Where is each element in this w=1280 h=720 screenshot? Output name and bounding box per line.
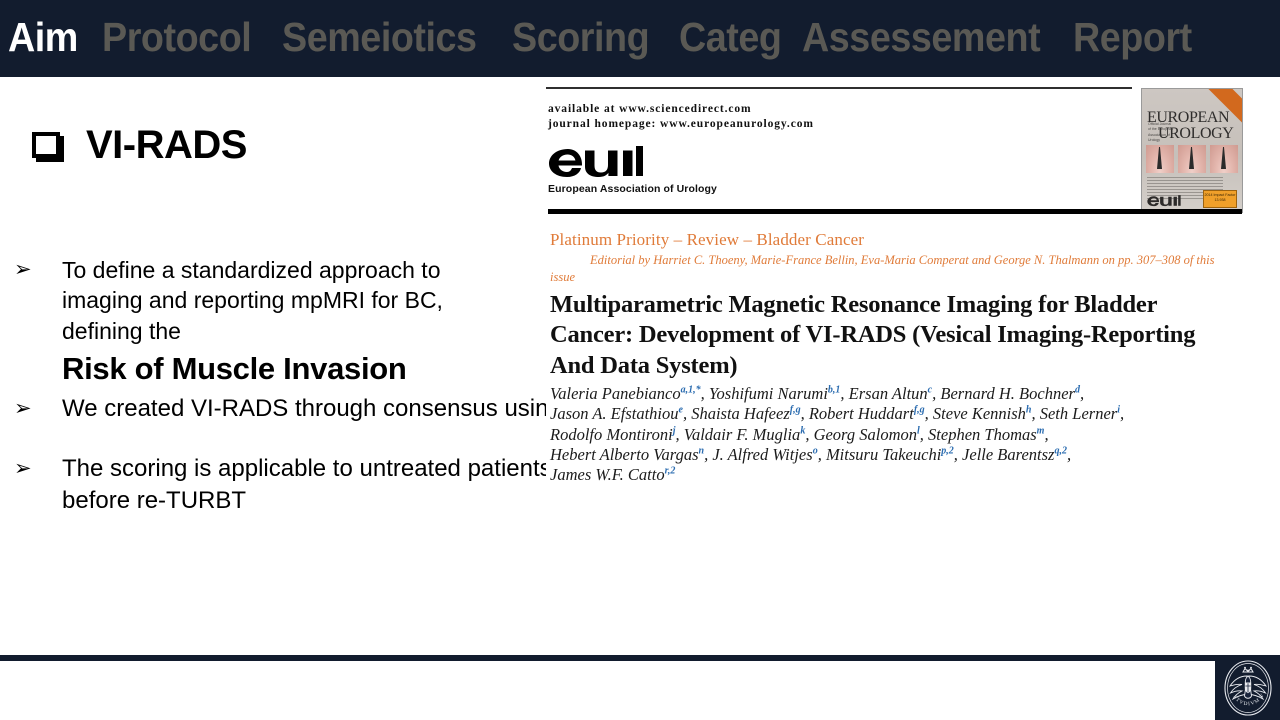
cover-anatomy-image-2 — [1178, 145, 1206, 173]
cover-subtitle: Official Journal of the European Associa… — [1148, 122, 1174, 143]
author-affiliation-marker: b,1 — [828, 385, 841, 396]
nav-item-protocol[interactable]: Protocol — [102, 17, 251, 61]
cover-impact-factor-text: 2014 Impact Factor 13.938 — [1204, 191, 1236, 204]
author-name: , — [1044, 425, 1048, 444]
article-available-at: available at www.sciencedirect.com — [548, 103, 752, 115]
author-name: , Stephen Thomas — [920, 425, 1037, 444]
journal-article-image: available at www.sciencedirect.com journ… — [546, 86, 1244, 484]
article-author-line: Hebert Alberto Vargasn, J. Alfred Witjes… — [550, 445, 1244, 465]
author-name: James W.F. Catto — [550, 465, 665, 484]
author-name: , Robert Huddart — [801, 404, 914, 423]
slide-canvas: Aim Protocol Semeiotics Scoring Categ As… — [0, 0, 1280, 720]
svg-text:STVDIVM VRBIS: STVDIVM VRBIS — [1222, 659, 1266, 707]
author-affiliation-marker: f,g — [790, 405, 801, 416]
nav-item-semeiotics[interactable]: Semeiotics — [282, 17, 477, 61]
eau-wordmark-icon — [548, 146, 644, 179]
footer-rule — [0, 655, 1215, 661]
author-affiliation-marker: f,g — [914, 405, 925, 416]
author-affiliation-marker: q,2 — [1054, 445, 1067, 456]
list-item-body: To define a standardized approach to ima… — [62, 257, 443, 344]
author-name: Hebert Alberto Vargas — [550, 445, 699, 464]
cover-eau-icon — [1147, 194, 1181, 208]
list-item-text: To define a standardized approach to ima… — [62, 255, 482, 390]
author-name: Jason A. Efstathiou — [550, 404, 679, 423]
author-affiliation-marker: p,2 — [941, 445, 954, 456]
article-author-line: Valeria Panebiancoa,1,*, Yoshifumi Narum… — [550, 384, 1244, 404]
author-affiliation-marker: r,2 — [665, 466, 676, 477]
author-name: Valeria Panebianco — [550, 384, 681, 403]
cover-impact-factor-badge: 2014 Impact Factor 13.938 — [1203, 190, 1237, 208]
nav-item-report[interactable]: Report — [1073, 17, 1192, 61]
list-item: ➢ To define a standardized approach to i… — [14, 255, 484, 390]
article-journal-homepage: journal homepage: www.europeanurology.co… — [548, 118, 814, 130]
author-name: , Shaista Hafeez — [683, 404, 790, 423]
author-name: , Valdair F. Muglia — [675, 425, 800, 444]
author-name: , Georg Salomon — [805, 425, 917, 444]
article-top-rule — [546, 87, 1132, 89]
article-author-list: Valeria Panebiancoa,1,*, Yoshifumi Narum… — [550, 384, 1244, 484]
author-name: , Yoshifumi Narumi — [701, 384, 828, 403]
author-name: , J. Alfred Witjes — [704, 445, 813, 464]
article-author-line: Rodolfo Montironij, Valdair F. Mugliak, … — [550, 425, 1244, 445]
page-title: VI-RADS — [86, 125, 247, 165]
nav-item-aim[interactable]: Aim — [8, 17, 78, 61]
footer-logo-panel: STVDIVM VRBIS — [1215, 655, 1280, 720]
eau-caption: European Association of Urology — [548, 183, 717, 195]
author-name: , Bernard H. Bochner — [932, 384, 1075, 403]
article-author-line: Jason A. Efstathioue, Shaista Hafeezf,g,… — [550, 404, 1244, 424]
section-heading: VI-RADS — [32, 125, 247, 165]
arrow-bullet-icon: ➢ — [14, 396, 38, 420]
list-item-emphasis: Risk of Muscle Invasion — [62, 348, 482, 390]
author-name: , Jelle Barentsz — [954, 445, 1055, 464]
sapienza-crest-icon: STVDIVM VRBIS — [1222, 659, 1274, 717]
author-name: , Seth Lerner — [1031, 404, 1117, 423]
nav-item-scoring[interactable]: Scoring — [512, 17, 649, 61]
article-thick-rule — [548, 209, 1242, 214]
cover-anatomy-image-1 — [1146, 145, 1174, 173]
article-priority-line: Platinum Priority – Review – Bladder Can… — [550, 230, 864, 250]
author-affiliation-marker: a,1,* — [681, 385, 701, 396]
author-name: Rodolfo Montironi — [550, 425, 673, 444]
author-name: , — [1080, 384, 1084, 403]
article-title: Multiparametric Magnetic Resonance Imagi… — [550, 290, 1240, 381]
slide-navigation-bar: Aim Protocol Semeiotics Scoring Categ As… — [0, 0, 1280, 77]
cover-anatomy-image-3 — [1210, 145, 1238, 173]
nav-item-categ[interactable]: Categ — [679, 17, 782, 61]
arrow-bullet-icon: ➢ — [14, 257, 38, 281]
journal-cover-thumbnail: EUROPEAN UROLOGY Official Journal of the… — [1141, 88, 1243, 213]
author-name: , Steve Kennish — [925, 404, 1026, 423]
nav-item-assessement[interactable]: Assessement — [802, 17, 1040, 61]
box-bullet-icon — [32, 132, 60, 158]
arrow-bullet-icon: ➢ — [14, 456, 38, 480]
author-name: , — [1120, 404, 1124, 423]
author-name: , — [1067, 445, 1071, 464]
eau-logo: European Association of Urology — [548, 146, 728, 198]
author-name: , Mitsuru Takeuchi — [818, 445, 942, 464]
article-author-line: James W.F. Cattor,2 — [550, 465, 1244, 484]
article-editorial-note: Editorial by Harriet C. Thoeny, Marie-Fr… — [550, 252, 1242, 286]
author-name: , Ersan Altun — [840, 384, 927, 403]
